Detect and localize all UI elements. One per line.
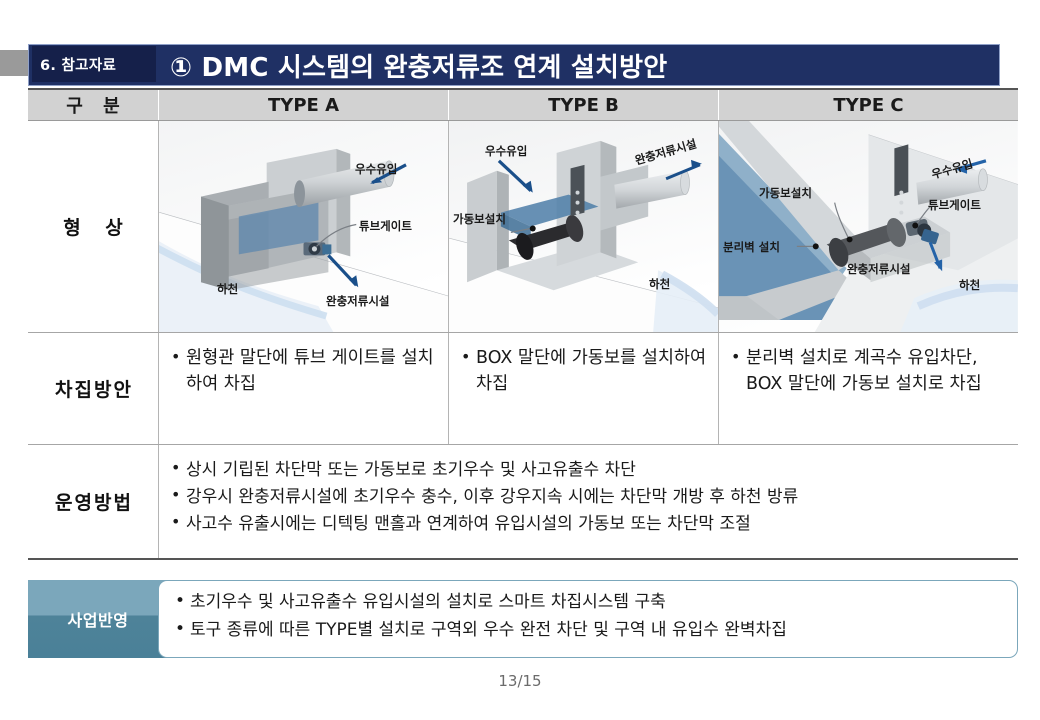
diagram-type-c: 우수유입 가동보설치 튜브게이트 분리벽 설치 완충저류시설 하천 [718,121,1018,332]
table-header-type-a: TYPE A [158,90,448,120]
diagram-label-buffer-facility: 완충저류시설 [847,261,910,277]
diagram-type-b: 우수유입 완충저류시설 가동보설치 하천 [448,121,718,332]
diagram-label-river: 하천 [959,277,980,293]
page-title: ① DMC 시스템의 완충저류조 연계 설치방안 [170,44,1040,86]
bullet-list: 분리벽 설치로 계곡수 유입차단, BOX 말단에 가동보 설치로 차집 [719,333,1018,397]
list-item: 토구 종류에 따른 TYPE별 설치로 구역외 우수 완전 차단 및 구역 내 … [175,618,1003,644]
list-item: 사고수 유출시에는 디텍팅 맨홀과 연계하여 유입시설의 가동보 또는 차단막 … [171,512,1008,536]
bullet-list: 상시 기립된 차단막 또는 가동보로 초기우수 및 사고유출수 차단 강우시 완… [159,445,1018,536]
row-label-intake-method: 차집방안 [28,333,158,444]
diagram-label-separation-wall: 분리벽 설치 [723,239,780,255]
list-item: 초기우수 및 사고유출수 유입시설의 설치로 스마트 차집시스템 구축 [175,590,1003,616]
slide: 6. 참고자료 ① DMC 시스템의 완충저류조 연계 설치방안 구 분 TYP… [0,0,1040,720]
slide-title-bar: 6. 참고자료 ① DMC 시스템의 완충저류조 연계 설치방안 [0,44,1040,88]
summary-label: 사업반영 [28,580,168,658]
diagram-label-tube-gate: 튜브게이트 [359,218,412,234]
diagram-label-buffer-facility: 완충저류시설 [326,293,389,309]
bullet-list: BOX 말단에 가동보를 설치하여 차집 [449,333,718,397]
intake-method-type-c: 분리벽 설치로 계곡수 유입차단, BOX 말단에 가동보 설치로 차집 [718,333,1018,444]
list-item: 분리벽 설치로 계곡수 유입차단, BOX 말단에 가동보 설치로 차집 [731,346,1008,397]
page-number: 13/15 [0,672,1040,690]
diagram-label-tube-gate: 튜브게이트 [928,197,981,213]
diagram-label-movable-weir: 가동보설치 [759,185,812,201]
summary-body: 초기우수 및 사고유출수 유입시설의 설치로 스마트 차집시스템 구축 토구 종… [158,580,1018,658]
intake-method-type-b: BOX 말단에 가동보를 설치하여 차집 [448,333,718,444]
table-row: 운영방법 상시 기립된 차단막 또는 가동보로 초기우수 및 사고유출수 차단 … [28,445,1018,560]
table-header-division: 구 분 [28,90,158,120]
list-item: BOX 말단에 가동보를 설치하여 차집 [461,346,708,397]
diagram-type-a: 우수유입 튜브게이트 하천 완충저류시설 [158,121,448,332]
list-item: 상시 기립된 차단막 또는 가동보로 초기우수 및 사고유출수 차단 [171,458,1008,482]
diagram-label-river: 하천 [217,281,238,297]
diagram-label-river: 하천 [649,276,670,292]
section-badge: 6. 참고자료 [32,46,156,82]
table-header-type-c: TYPE C [718,90,1018,120]
list-item: 강우시 완충저류시설에 초기우수 충수, 이후 강우지속 시에는 차단막 개방 … [171,485,1008,509]
diagram-label-movable-weir: 가동보설치 [453,211,506,227]
row-label-operation-method: 운영방법 [28,445,158,558]
summary-bullet-list: 초기우수 및 사고유출수 유입시설의 설치로 스마트 차집시스템 구축 토구 종… [175,590,1003,643]
diagram-label-inflow: 우수유입 [355,161,397,177]
bullet-list: 원형관 말단에 튜브 게이트를 설치하여 차집 [159,333,448,397]
summary-section: 사업반영 초기우수 및 사고유출수 유입시설의 설치로 스마트 차집시스템 구축… [28,580,1018,658]
comparison-table: 구 분 TYPE A TYPE B TYPE C 형 상 [28,88,1018,560]
diagram-label-inflow: 우수유입 [485,143,527,159]
row-label-shape: 형 상 [28,121,158,332]
table-row: 형 상 [28,121,1018,333]
table-row: 차집방안 원형관 말단에 튜브 게이트를 설치하여 차집 BOX 말단에 가동보… [28,333,1018,445]
intake-method-type-a: 원형관 말단에 튜브 게이트를 설치하여 차집 [158,333,448,444]
table-header-row: 구 분 TYPE A TYPE B TYPE C [28,88,1018,121]
section-badge-label: 6. 참고자료 [40,54,116,75]
list-item: 원형관 말단에 튜브 게이트를 설치하여 차집 [171,346,438,397]
diagram-type-c-svg [719,121,1018,332]
table-header-type-b: TYPE B [448,90,718,120]
operation-method-content: 상시 기립된 차단막 또는 가동보로 초기우수 및 사고유출수 차단 강우시 완… [158,445,1018,558]
